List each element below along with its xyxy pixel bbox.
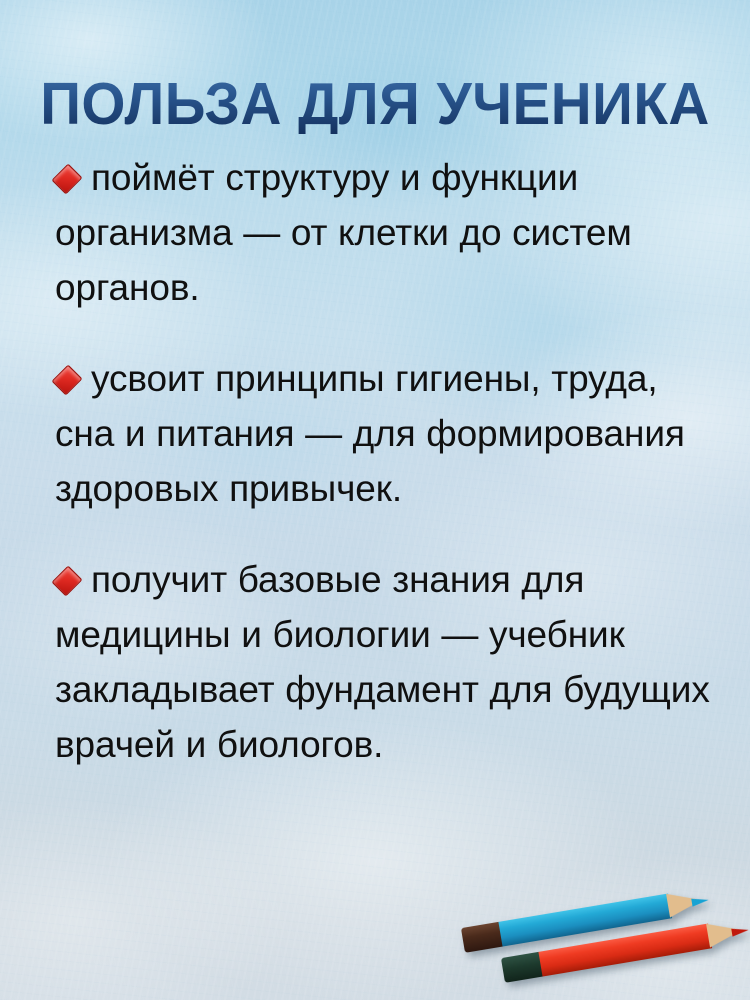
blue-pencil-cap: [461, 922, 505, 953]
pencils-decoration: [455, 898, 750, 1000]
list-item-text: поймёт структуру и функции организма — о…: [55, 157, 632, 308]
list-item-text: усвоит принципы гигиены, труда, сна и пи…: [55, 358, 685, 509]
poster-canvas: ПОЛЬЗА ДЛЯ УЧЕНИКА поймёт структуру и фу…: [0, 0, 750, 1000]
benefits-list: поймёт структуру и функции организма — о…: [55, 150, 715, 772]
list-item: усвоит принципы гигиены, труда, сна и пи…: [55, 351, 715, 516]
list-item-text: получит базовые знания для медицины и би…: [55, 559, 710, 765]
red-pencil-lead: [731, 925, 749, 936]
list-item: получит базовые знания для медицины и би…: [55, 552, 715, 772]
red-diamond-icon: [55, 566, 77, 596]
list-item: поймёт структуру и функции организма — о…: [55, 150, 715, 315]
page-title: ПОЛЬЗА ДЛЯ УЧЕНИКА: [15, 74, 735, 134]
red-diamond-icon: [55, 365, 77, 395]
blue-pencil-lead: [691, 895, 709, 906]
red-diamond-icon: [55, 164, 77, 194]
red-pencil-cap: [501, 952, 545, 983]
